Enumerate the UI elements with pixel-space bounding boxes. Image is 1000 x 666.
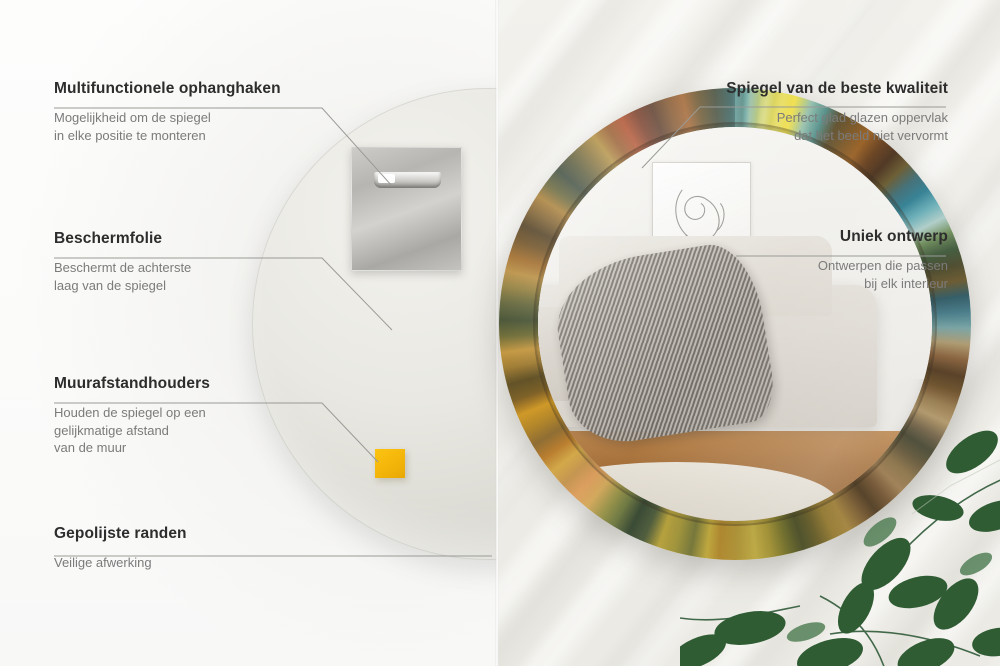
callout-description: Houden de spiegel op een gelijkmatige af… xyxy=(54,404,210,457)
callout-multifunctionele-ophanghaken: Multifunctionele ophanghaken Mogelijkhei… xyxy=(54,80,281,144)
callout-description: Perfect glad glazen oppervlak dat het be… xyxy=(726,109,948,144)
wall-spacer-icon xyxy=(375,449,405,478)
callout-title: Uniek ontwerp xyxy=(818,228,948,246)
foliage-decoration xyxy=(680,356,1000,666)
callout-title: Multifunctionele ophanghaken xyxy=(54,80,281,98)
callout-uniek-ontwerp: Uniek ontwerp Ontwerpen die passen bij e… xyxy=(818,228,948,292)
callout-description: Mogelijkheid om de spiegel in elke posit… xyxy=(54,109,281,144)
callout-title: Muurafstandhouders xyxy=(54,375,210,393)
callout-description: Veilige afwerking xyxy=(54,554,187,572)
callout-title: Beschermfolie xyxy=(54,230,191,248)
callout-description: Ontwerpen die passen bij elk interieur xyxy=(818,257,948,292)
callout-title: Spiegel van de beste kwaliteit xyxy=(726,80,948,98)
callout-title: Gepolijste randen xyxy=(54,525,187,543)
callout-spiegel-van-de-beste-kwaliteit: Spiegel van de beste kwaliteit Perfect g… xyxy=(726,80,948,144)
hanger-plate-icon xyxy=(351,147,462,271)
infographic-canvas: Multifunctionele ophanghaken Mogelijkhei… xyxy=(0,0,1000,666)
hanger-slot-icon xyxy=(374,172,442,188)
callout-beschermfolie: Beschermfolie Beschermt de achterste laa… xyxy=(54,230,191,294)
callout-description: Beschermt de achterste laag van de spieg… xyxy=(54,259,191,294)
callout-gepolijste-randen: Gepolijste randen Veilige afwerking xyxy=(54,525,187,572)
callout-muurafstandhouders: Muurafstandhouders Houden de spiegel op … xyxy=(54,375,210,457)
